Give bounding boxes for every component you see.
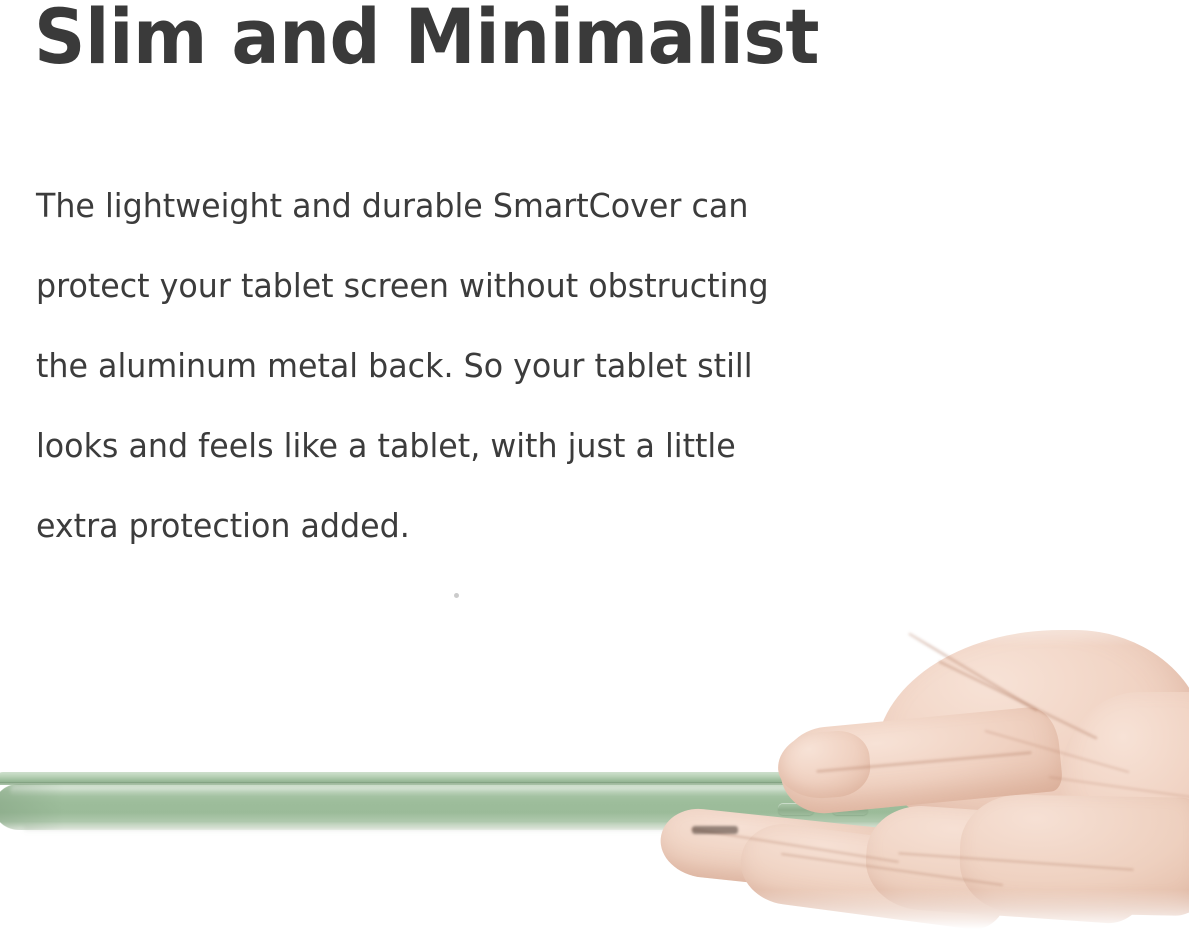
product-photo	[0, 600, 1189, 929]
description-line: looks and feels like a tablet, with just…	[36, 406, 929, 486]
tablet-finger-gap-shadow	[692, 826, 738, 834]
product-feature-banner: Slim and Minimalist The lightweight and …	[0, 0, 1189, 929]
tablet-left-cap	[0, 784, 64, 830]
page-title: Slim and Minimalist	[34, 0, 819, 78]
finger-4	[959, 794, 1189, 916]
description-line: The lightweight and durable SmartCover c…	[36, 166, 929, 246]
image-speck-artifact	[454, 593, 459, 598]
description-line: extra protection added.	[36, 486, 929, 566]
description-line: the aluminum metal back. So your tablet …	[36, 326, 929, 406]
hand-holding-tablet	[630, 600, 1189, 929]
description-line: protect your tablet screen without obstr…	[36, 246, 929, 326]
description-paragraph: The lightweight and durable SmartCover c…	[36, 166, 966, 566]
